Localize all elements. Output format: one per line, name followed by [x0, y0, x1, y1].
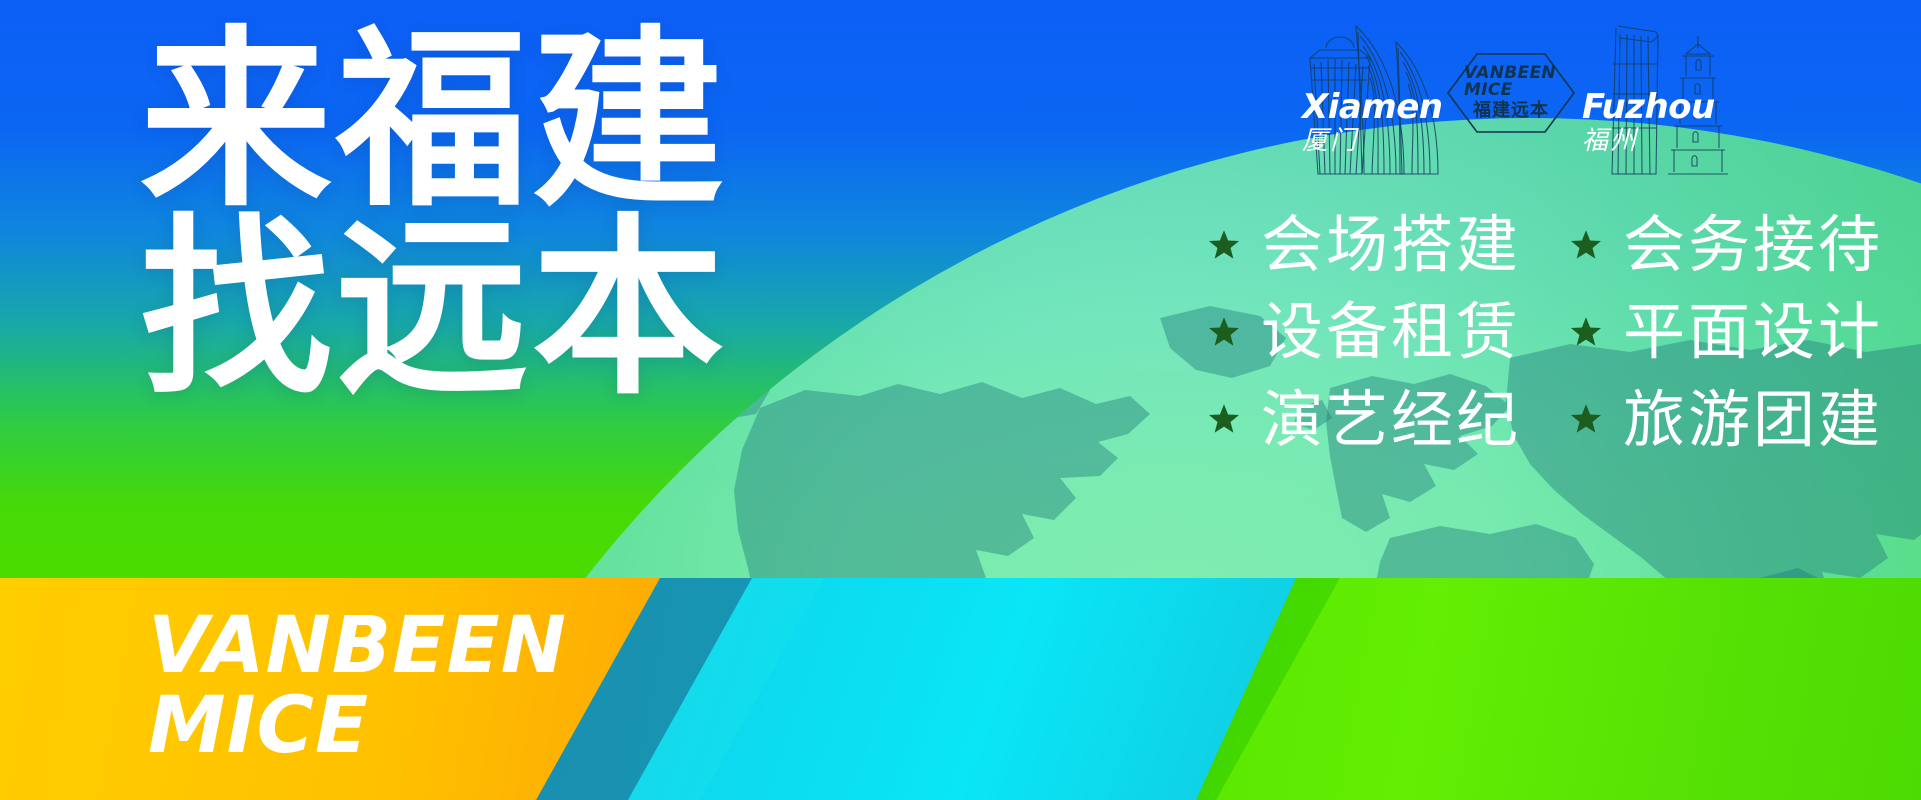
- city-name-en: Xiamen: [1302, 90, 1443, 124]
- service-label: 旅游团建: [1623, 380, 1883, 459]
- wordmark-line-2: MICE: [148, 686, 567, 766]
- stripe-green: [1216, 578, 1921, 800]
- star-icon: [1569, 228, 1603, 262]
- service-list: 会场搭建 会务接待 设备租赁 平面设计: [1207, 205, 1883, 459]
- service-item[interactable]: 会务接待: [1569, 205, 1883, 284]
- service-item[interactable]: 演艺经纪: [1207, 380, 1521, 459]
- service-item[interactable]: 旅游团建: [1569, 380, 1883, 459]
- main-panel: 来福建 找远本 会场搭建 会务接待 设备租赁: [0, 0, 1921, 578]
- badge-line-2: MICE: [1464, 82, 1513, 99]
- service-label: 会务接待: [1623, 205, 1883, 284]
- star-icon: [1207, 228, 1241, 262]
- headline-line-1: 来福建: [140, 28, 728, 216]
- star-icon: [1207, 402, 1241, 436]
- brand-badge[interactable]: VANBEEN MICE 福建远本: [1446, 52, 1576, 134]
- service-item[interactable]: 设备租赁: [1207, 292, 1521, 371]
- city-label-fuzhou[interactable]: Fuzhou 福州: [1582, 90, 1715, 157]
- service-label: 平面设计: [1623, 292, 1883, 371]
- star-icon: [1569, 315, 1603, 349]
- page-title: 来福建 找远本: [140, 28, 728, 404]
- headline-line-2: 找远本: [140, 216, 728, 404]
- badge-line-cn: 福建远本: [1473, 101, 1549, 121]
- city-name-en: Fuzhou: [1582, 90, 1715, 124]
- city-name-cn: 福州: [1582, 127, 1715, 157]
- city-name-cn: 厦门: [1302, 127, 1443, 157]
- star-icon: [1207, 315, 1241, 349]
- city-logo-cluster: Xiamen 厦门 Fuzhou 福州 VANBEEN MICE 福建远本: [1300, 2, 1860, 182]
- service-label: 设备租赁: [1261, 292, 1521, 371]
- star-icon: [1569, 402, 1603, 436]
- service-label: 会场搭建: [1261, 205, 1521, 284]
- service-label: 演艺经纪: [1261, 380, 1521, 459]
- brand-wordmark: VANBEEN MICE: [148, 606, 567, 767]
- city-label-xiamen[interactable]: Xiamen 厦门: [1302, 90, 1443, 157]
- service-item[interactable]: 平面设计: [1569, 292, 1883, 371]
- service-item[interactable]: 会场搭建: [1207, 205, 1521, 284]
- bottom-bar: VANBEEN MICE: [0, 578, 1921, 800]
- wordmark-line-1: VANBEEN: [148, 606, 567, 686]
- promo-banner: 来福建 找远本 会场搭建 会务接待 设备租赁: [0, 0, 1921, 800]
